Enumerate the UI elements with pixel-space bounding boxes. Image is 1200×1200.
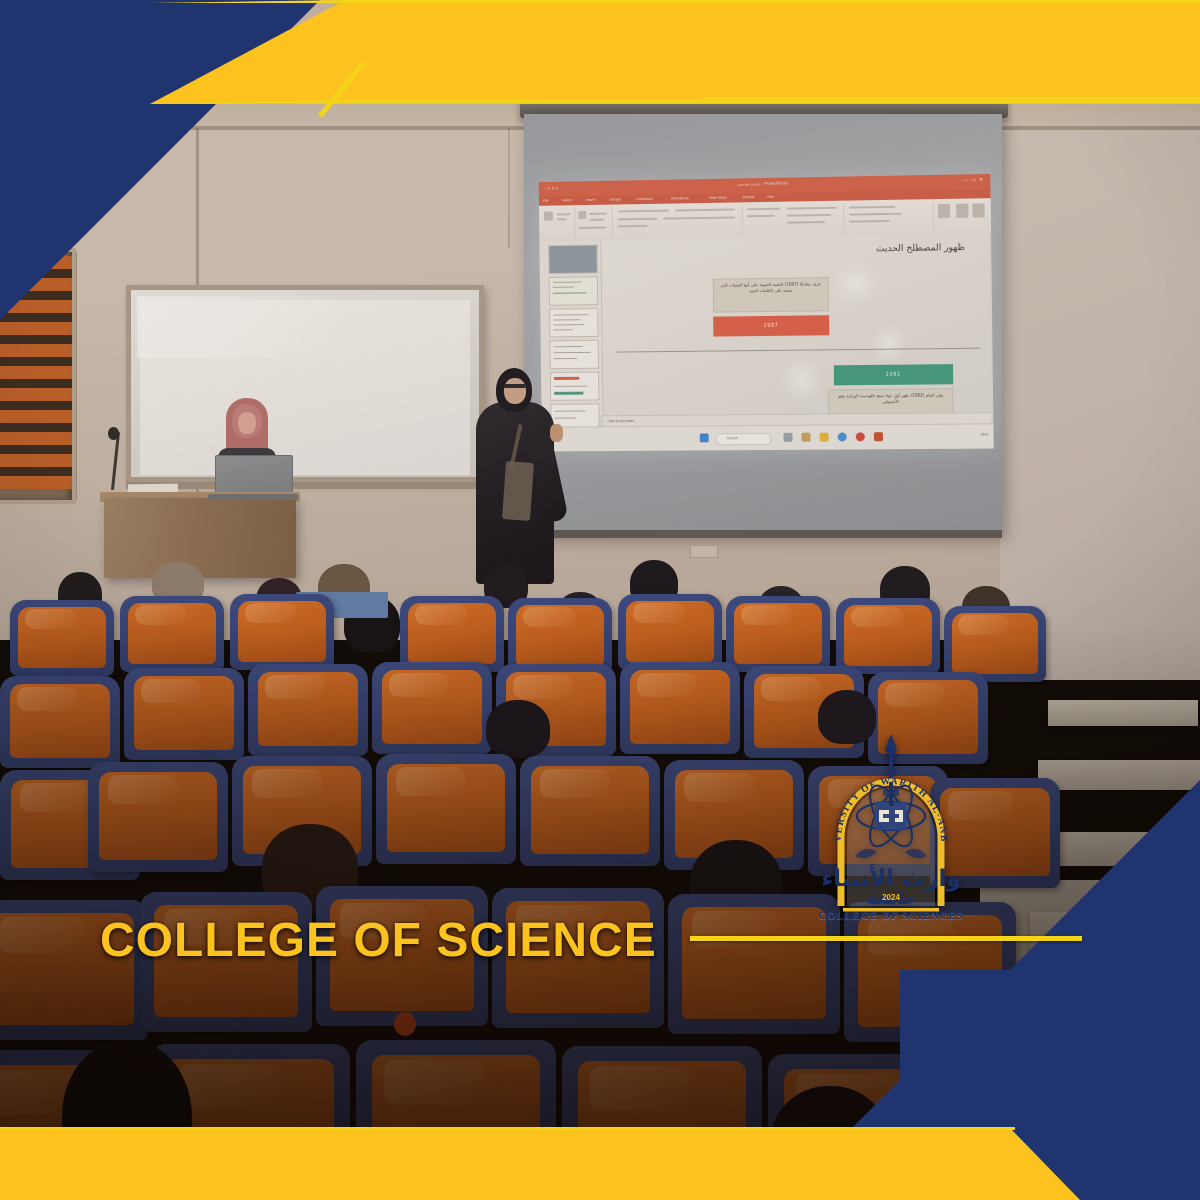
auditorium-seat [356, 1040, 556, 1200]
logo-year: 2024 [882, 893, 900, 902]
auditorium-seat [10, 600, 114, 676]
auditorium-seat [400, 596, 504, 672]
auditorium-seat [944, 606, 1046, 682]
auditorium-seat [372, 662, 492, 754]
auditorium-seat [620, 662, 740, 754]
auditorium-seat [562, 1046, 762, 1200]
auditorium-seat [836, 598, 940, 674]
title-rule [690, 936, 1082, 941]
auditorium-seat [230, 594, 334, 670]
auditorium-seat [376, 754, 516, 864]
poster-canvas: ▫ ↺ ↻ ▾ عرض تقديمي - PowerPoint —▭✕ File… [0, 0, 1200, 1200]
auditorium-seat [124, 668, 244, 760]
university-logo: UNIVERSITY OF WARITH AL-ANBIYA وارث الأن… [815, 728, 967, 928]
audience-head [486, 700, 550, 758]
seat-sticker [394, 1012, 416, 1036]
auditorium-seat [0, 676, 120, 768]
auditorium-seat [520, 756, 660, 866]
logo-caption: COLLEGE OF SCIENCES [815, 911, 967, 922]
page-title: COLLEGE OF SCIENCE [100, 913, 657, 968]
auditorium-seat [508, 598, 612, 674]
auditorium-seat [88, 762, 228, 872]
auditorium-seating [0, 0, 1200, 1200]
auditorium-seat [120, 596, 224, 672]
auditorium-seat [248, 664, 368, 756]
logo-arabic-name: وارث الأنبياء [821, 863, 960, 892]
audience-head [62, 1040, 192, 1200]
auditorium-seat [618, 594, 722, 670]
lecture-hall-photo: ▫ ↺ ↻ ▾ عرض تقديمي - PowerPoint —▭✕ File… [0, 0, 1200, 1200]
auditorium-seat [726, 596, 830, 672]
audience-head [770, 1086, 890, 1200]
